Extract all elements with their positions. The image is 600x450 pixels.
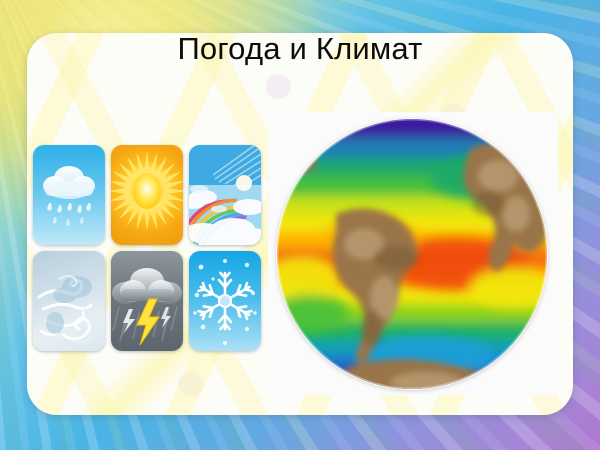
- snowflake-icon: [189, 251, 261, 351]
- weather-tile-sun[interactable]: [111, 145, 183, 245]
- thunderstorm-icon: [111, 251, 183, 351]
- rainbow-icon: [189, 145, 261, 245]
- weather-tile-wind[interactable]: [33, 251, 105, 351]
- globe-image-frame: [268, 112, 558, 395]
- globe-svg: [276, 118, 548, 390]
- weather-tile-rain[interactable]: [33, 145, 105, 245]
- weather-tile-thunderstorm[interactable]: [111, 251, 183, 351]
- weather-tile-snow[interactable]: [189, 251, 261, 351]
- sun-icon: [111, 145, 183, 245]
- wind-swirl-icon: [33, 251, 105, 351]
- sea-surface-temperature-globe: [276, 118, 548, 390]
- weather-icon-grid: [33, 145, 269, 351]
- weather-tile-rainbow[interactable]: [189, 145, 261, 245]
- slide-root: Погода и Климат: [0, 0, 600, 450]
- rain-cloud-icon: [33, 145, 105, 245]
- page-title: Погода и Климат: [0, 30, 600, 68]
